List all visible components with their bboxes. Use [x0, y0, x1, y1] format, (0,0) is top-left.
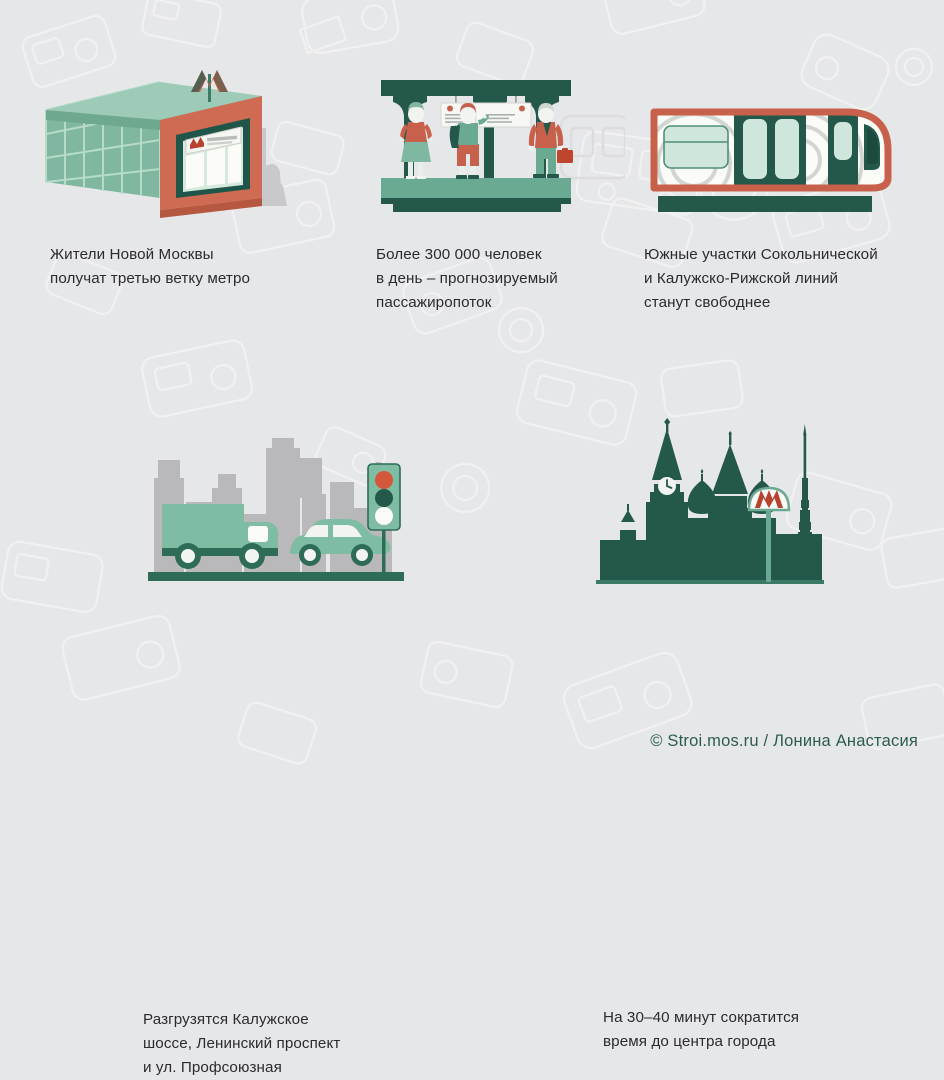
panel-caption-kremlin: На 30–40 минут сократится время до центр… [603, 1006, 799, 1054]
metro-entrance-pavilion-icon [40, 58, 305, 223]
panel-caption-metro-entrance: Жители Новой Москвы получат третью ветку… [50, 243, 250, 291]
metro-train-car-icon [650, 104, 902, 220]
passenger-man-briefcase [528, 103, 573, 178]
traffic-light-amber [375, 489, 393, 507]
moscow-kremlin-skyline-with-metro-sign-icon [590, 418, 870, 593]
panel-platform: Более 300 000 человек в день – прогнозир… [355, 0, 645, 330]
panel-caption-platform: Более 300 000 человек в день – прогнозир… [376, 243, 558, 315]
panel-kremlin: На 30–40 минут сократится время до центр… [570, 408, 900, 698]
panel-train: Южные участки Сокольнической и Калужско-… [630, 0, 944, 330]
panel-caption-traffic: Разгрузятся Калужское шоссе, Ленинский п… [143, 1008, 340, 1080]
traffic-light-green [375, 507, 393, 525]
panel-traffic: Разгрузятся Калужское шоссе, Ленинский п… [130, 408, 450, 698]
infographic-stage: Жители Новой Москвы получат третью ветку… [0, 0, 944, 773]
metro-platform-with-passengers-icon [375, 72, 625, 222]
city-traffic-truck-car-trafficlight-icon [140, 428, 420, 588]
traffic-light-red [375, 471, 393, 489]
panel-metro-entrance: Жители Новой Москвы получат третью ветку… [0, 0, 340, 320]
panel-caption-train: Южные участки Сокольнической и Калужско-… [644, 243, 878, 315]
footer-credit: © Stroi.mos.ru / Лонина Анастасия [650, 732, 918, 751]
